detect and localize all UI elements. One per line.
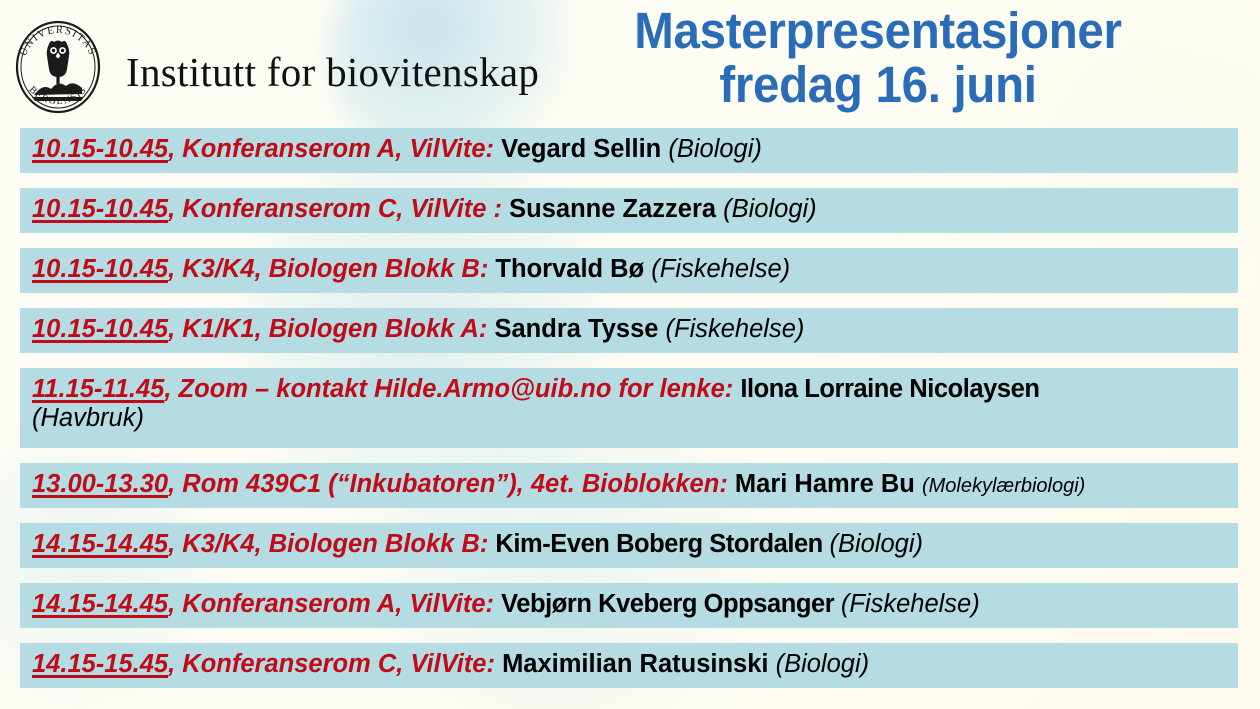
schedule-row: 11.15-11.45, Zoom – kontakt Hilde.Armo@u… (20, 368, 1238, 448)
presentation-subject: (Biologi) (776, 650, 870, 678)
presenter-name: Kim-Even Boberg Stordalen (495, 530, 829, 558)
schedule-row: 14.15-14.45, Konferanserom A, VilVite: V… (20, 583, 1238, 628)
presenter-name: Ilona Lorraine Nicolaysen (740, 375, 1039, 403)
presentation-time: 14.15-15.45 (32, 650, 168, 678)
presenter-name: Vegard Sellin (501, 135, 668, 163)
presentation-location: , K1/K1, Biologen Blokk A: (168, 315, 494, 343)
presentation-time: 10.15-10.45 (32, 135, 168, 163)
presentation-time: 11.15-11.45 (32, 375, 164, 403)
title-line-2: fredag 16. juni (590, 58, 1167, 112)
schedule-row: 14.15-15.45, Konferanserom C, VilVite: M… (20, 643, 1238, 688)
title-line-1: Masterpresentasjoner (590, 4, 1167, 58)
presenter-name: Sandra Tysse (494, 315, 665, 343)
presentation-subject: (Biologi) (668, 135, 762, 163)
presenter-name: Susanne Zazzera (509, 195, 723, 223)
presentation-subject: (Fiskehelse) (841, 590, 980, 618)
presentation-location: , Konferanserom A, VilVite: (168, 135, 501, 163)
presenter-name: Maximilian Ratusinski (502, 650, 776, 678)
presentation-time: 10.15-10.45 (32, 315, 168, 343)
presentation-time: 10.15-10.45 (32, 195, 168, 223)
presenter-name: Thorvald Bø (495, 255, 651, 283)
schedule-row: 13.00-13.30, Rom 439C1 (“Inkubatoren”), … (20, 463, 1238, 508)
presentation-time: 13.00-13.30 (32, 470, 168, 498)
presentation-subject: (Biologi) (829, 530, 923, 558)
schedule-row: 10.15-10.45, Konferanserom A, VilVite: V… (20, 128, 1238, 173)
page-title: Masterpresentasjoner fredag 16. juni (590, 4, 1167, 112)
presentation-time: 10.15-10.45 (32, 255, 168, 283)
presentation-location: , Rom 439C1 (“Inkubatoren”), 4et. Bioblo… (168, 470, 735, 498)
presentation-time: 14.15-14.45 (32, 590, 168, 618)
presentation-location: , Zoom – kontakt Hilde.Armo@uib.no for l… (164, 375, 740, 403)
presentation-location: , Konferanserom C, VilVite: (168, 650, 502, 678)
presenter-name: Mari Hamre Bu (735, 470, 922, 498)
presentation-time: 14.15-14.45 (32, 530, 168, 558)
presentation-location: , Konferanserom C, VilVite : (168, 195, 509, 223)
department-name: Institutt for biovitenskap (126, 48, 539, 96)
schedule-list: 10.15-10.45, Konferanserom A, VilVite: V… (20, 128, 1238, 703)
presenter-name: Vebjørn Kveberg Oppsanger (501, 590, 841, 618)
presentation-subject: (Molekylærbiologi) (922, 475, 1085, 497)
schedule-row: 10.15-10.45, K3/K4, Biologen Blokk B: Th… (20, 248, 1238, 293)
presentation-subject: (Biologi) (723, 195, 817, 223)
schedule-row: 10.15-10.45, K1/K1, Biologen Blokk A: Sa… (20, 308, 1238, 353)
presentation-subject: (Fiskehelse) (666, 315, 805, 343)
presentation-subject: (Fiskehelse) (651, 255, 790, 283)
uib-seal-icon: UNIVERSITAS BERGENSIS (8, 17, 108, 117)
schedule-row: 14.15-14.45, K3/K4, Biologen Blokk B: Ki… (20, 523, 1238, 568)
presentation-location: , K3/K4, Biologen Blokk B: (168, 530, 495, 558)
presentation-location: , Konferanserom A, VilVite: (168, 590, 501, 618)
schedule-row: 10.15-10.45, Konferanserom C, VilVite : … (20, 188, 1238, 233)
slide: UNIVERSITAS BERGENSIS (0, 0, 1260, 709)
presentation-subject: (Havbruk) (32, 404, 144, 432)
presentation-location: , K3/K4, Biologen Blokk B: (168, 255, 495, 283)
slide-header: UNIVERSITAS BERGENSIS (0, 0, 1260, 128)
